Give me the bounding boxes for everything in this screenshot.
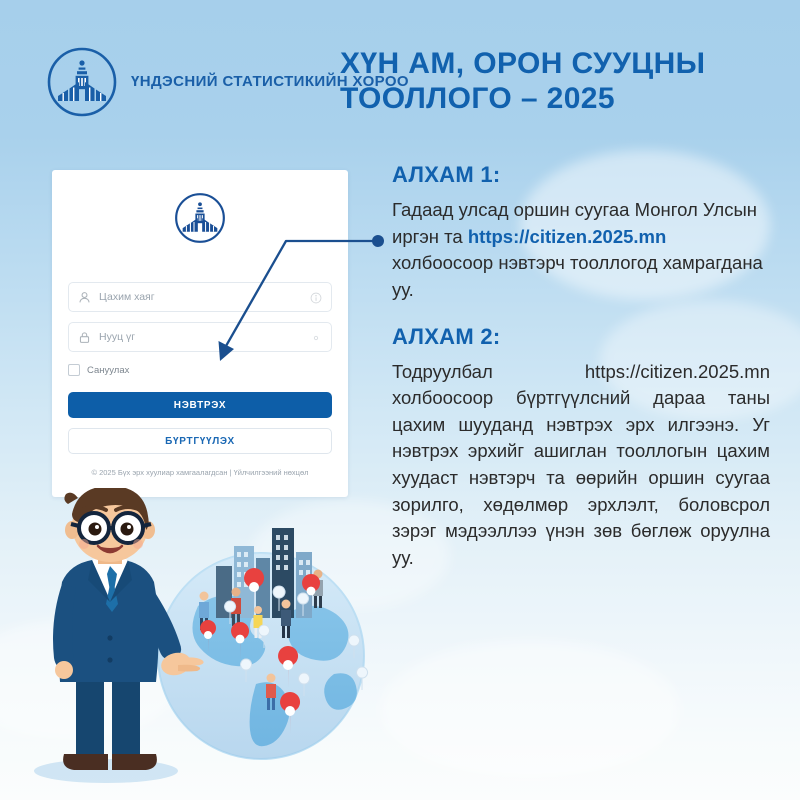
remember-me-checkbox[interactable]: Сануулах (68, 364, 129, 376)
login-card: Цахим хаяг Нууц үг (52, 170, 348, 497)
background-cloud (380, 640, 680, 780)
step-1-body: Гадаад улсад оршин суугаа Монгол Улсын и… (392, 197, 770, 304)
remember-me-label: Сануулах (87, 365, 129, 376)
login-button[interactable]: НЭВТРЭХ (68, 392, 332, 418)
email-field[interactable]: Цахим хаяг (68, 282, 332, 312)
password-field[interactable]: Нууц үг (68, 322, 332, 352)
password-placeholder: Нууц үг (99, 331, 310, 343)
citizen-portal-link[interactable]: https://citizen.2025.mn (468, 226, 666, 247)
user-icon (78, 291, 91, 304)
nso-emblem-icon (174, 192, 226, 244)
step-1-text-after: холбоосоор нэвтэрч тооллогод хамрагдана … (392, 252, 763, 300)
step-2-body: Тодруулбал https://citizen.2025.mn холбо… (392, 359, 770, 572)
register-button[interactable]: БҮРТГҮҮЛЭХ (68, 428, 332, 454)
step-1-heading: АЛХАМ 1: (392, 162, 770, 188)
email-placeholder: Цахим хаяг (99, 291, 310, 303)
step-1: АЛХАМ 1: Гадаад улсад оршин суугаа Монго… (392, 162, 770, 304)
eye-icon[interactable] (310, 331, 322, 343)
lock-icon (78, 331, 91, 344)
steps-section: АЛХАМ 1: Гадаад улсад оршин суугаа Монго… (392, 162, 770, 572)
poster-canvas: ҮНДЭСНИЙ СТАТИСТИКИЙН ХОРОО ХҮН АМ, ОРОН… (0, 0, 800, 800)
info-circle-icon[interactable] (310, 291, 322, 303)
man-pointing-at-globe-illustration (18, 488, 390, 800)
poster-header: ҮНДЭСНИЙ СТАТИСТИКИЙН ХОРОО ХҮН АМ, ОРОН… (0, 0, 800, 150)
card-footer-text: © 2025 Бүх эрх хуулиар хамгаалагдсан | Ү… (52, 468, 348, 477)
page-title: ХҮН АМ, ОРОН СУУЦНЫ ТООЛЛОГО – 2025 (340, 46, 780, 116)
checkbox-box[interactable] (68, 364, 80, 376)
step-2-heading: АЛХАМ 2: (392, 324, 770, 350)
step-2: АЛХАМ 2: Тодруулбал https://citizen.2025… (392, 324, 770, 572)
nso-emblem-icon (46, 46, 118, 118)
